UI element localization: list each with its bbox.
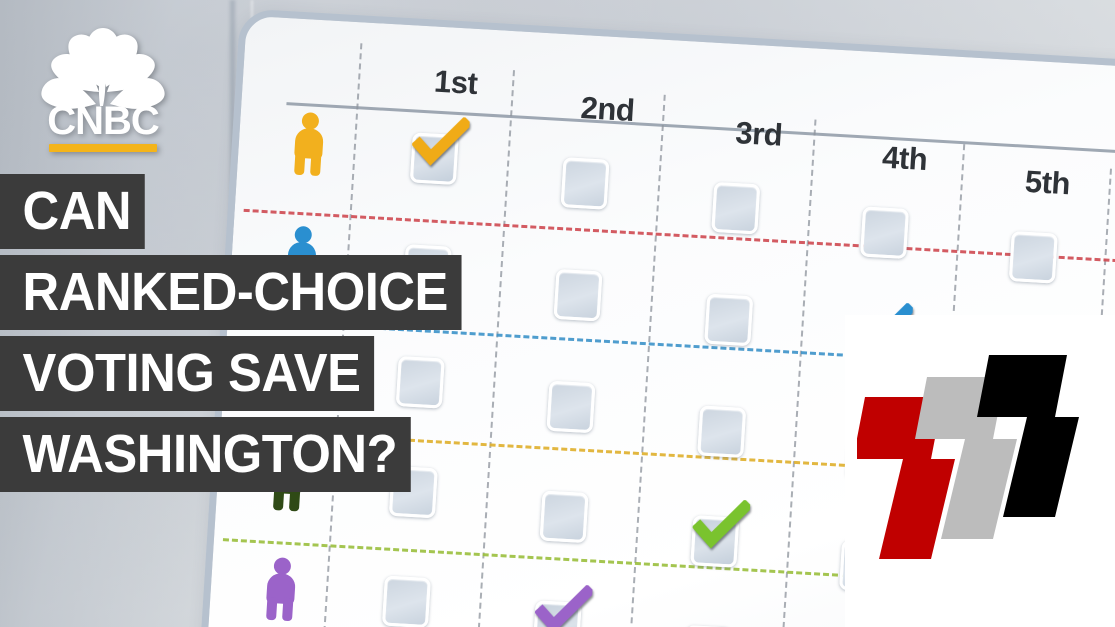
- column-header-2nd: 2nd: [580, 90, 636, 129]
- video-thumbnail: 1st 2nd 3rd 4th 5th: [0, 0, 1115, 627]
- ballot-checkbox-r2c3[interactable]: [704, 294, 753, 347]
- title-line-1: CAN: [0, 174, 144, 249]
- ballot-checkbox-r2c2[interactable]: [553, 269, 602, 322]
- title-line-3: VOTING SAVE: [0, 336, 374, 411]
- ballot-checkbox-r3c3[interactable]: [697, 405, 746, 458]
- ballot-checkbox-r3c1[interactable]: [396, 356, 445, 409]
- cnbc-wordmark: CNBC: [47, 99, 159, 143]
- ballot-checkbox-r1c1[interactable]: [410, 132, 459, 185]
- title-line-4: WASHINGTON?: [0, 417, 410, 492]
- ballot-checkbox-r5c1[interactable]: [382, 576, 431, 627]
- ballot-checkbox-r1c5[interactable]: [1009, 231, 1058, 284]
- voter-purple-icon: [264, 557, 298, 621]
- column-header-1st: 1st: [433, 64, 479, 102]
- ballot-checkbox-r4c3[interactable]: [690, 515, 739, 568]
- ttt-logo-icon: [857, 353, 1097, 568]
- column-header-5th: 5th: [1024, 164, 1071, 203]
- ballot-checkbox-r3c2[interactable]: [546, 381, 595, 434]
- voter-yellow-icon: [292, 112, 326, 176]
- ballot-checkbox-r1c3[interactable]: [711, 182, 760, 235]
- cnbc-logo: CNBC: [28, 22, 178, 162]
- peacock-icon: [41, 28, 164, 109]
- ballot-checkbox-r4c2[interactable]: [540, 490, 589, 543]
- ballot-checkbox-r1c2[interactable]: [561, 157, 610, 210]
- column-header-4th: 4th: [881, 140, 928, 179]
- ttt-logo-card: [845, 315, 1115, 627]
- ballot-checkbox-r1c4[interactable]: [860, 206, 909, 259]
- ballot-checkbox-r5c2[interactable]: [533, 600, 582, 627]
- title-line-2: RANKED-CHOICE: [0, 255, 461, 330]
- cnbc-accent-bar: [49, 144, 157, 152]
- column-header-3rd: 3rd: [734, 115, 783, 154]
